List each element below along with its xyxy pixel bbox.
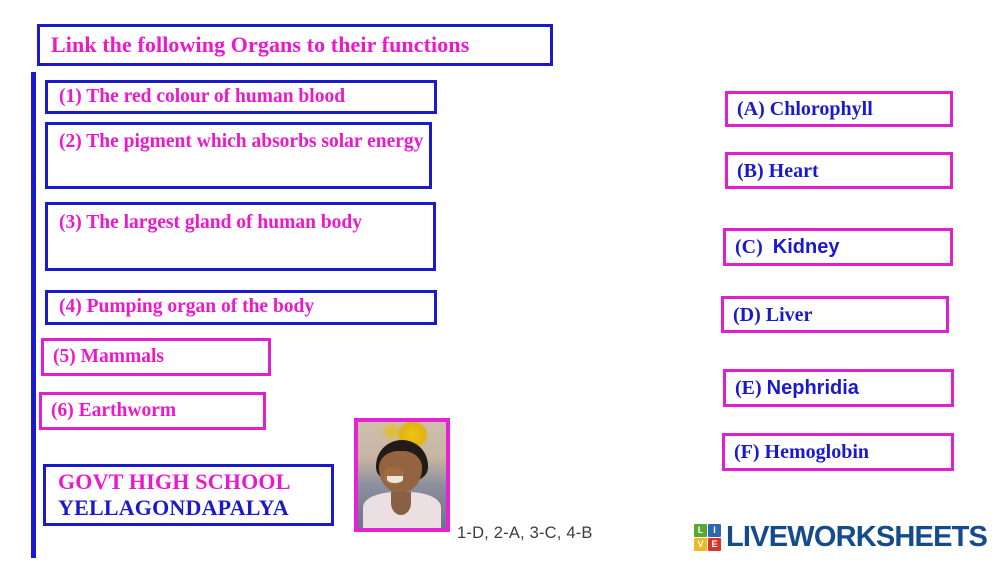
liveworksheets-mark-icon: L I V E bbox=[694, 524, 721, 551]
option-label-a: (A) Chlorophyll bbox=[737, 97, 873, 121]
option-key-b: (B) bbox=[737, 160, 764, 182]
question-item-6[interactable]: (6) Earthworm bbox=[39, 392, 266, 430]
option-label-c: (C) Kidney bbox=[735, 235, 839, 259]
question-item-5[interactable]: (5) Mammals bbox=[41, 338, 271, 376]
question-label-2: (2) The pigment which absorbs solar ener… bbox=[59, 130, 423, 155]
liveworksheets-logo[interactable]: L I V E LIVEWORKSHEETS bbox=[694, 520, 987, 554]
question-item-3[interactable]: (3) The largest gland of human body bbox=[45, 202, 436, 271]
option-text-f: Hemoglobin bbox=[765, 441, 869, 463]
worksheet-title-box: Link the following Organs to their funct… bbox=[37, 24, 553, 66]
question-label-1: (1) The red colour of human blood bbox=[59, 85, 345, 110]
option-key-d: (D) bbox=[733, 304, 761, 326]
option-item-a[interactable]: (A) Chlorophyll bbox=[725, 91, 953, 127]
school-name-box: GOVT HIGH SCHOOL YELLAGONDAPALYA bbox=[43, 464, 334, 526]
logo-cell-i: I bbox=[708, 524, 721, 537]
option-text-a: Chlorophyll bbox=[770, 98, 873, 120]
question-label-6: (6) Earthworm bbox=[51, 399, 176, 424]
left-blue-rail bbox=[31, 72, 36, 558]
option-key-c: (C) bbox=[735, 236, 763, 258]
option-key-e: (E) bbox=[735, 377, 762, 399]
option-item-c[interactable]: (C) Kidney bbox=[723, 228, 953, 266]
option-item-e[interactable]: (E) Nephridia bbox=[723, 369, 954, 407]
option-label-f: (F) Hemoglobin bbox=[734, 440, 869, 464]
option-item-b[interactable]: (B) Heart bbox=[725, 152, 953, 189]
option-item-f[interactable]: (F) Hemoglobin bbox=[722, 433, 954, 471]
logo-cell-v: V bbox=[694, 538, 707, 551]
option-label-b: (B) Heart bbox=[737, 159, 819, 183]
teacher-photo bbox=[354, 418, 450, 532]
question-item-2[interactable]: (2) The pigment which absorbs solar ener… bbox=[45, 122, 432, 189]
question-label-3: (3) The largest gland of human body bbox=[59, 211, 362, 236]
worksheet-page: Link the following Organs to their funct… bbox=[0, 0, 1000, 562]
question-label-5: (5) Mammals bbox=[53, 345, 164, 370]
option-label-d: (D) Liver bbox=[733, 303, 812, 327]
option-label-e: (E) Nephridia bbox=[735, 376, 859, 400]
option-item-d[interactable]: (D) Liver bbox=[721, 296, 949, 333]
logo-cell-l: L bbox=[694, 524, 707, 537]
school-name-line-2: YELLAGONDAPALYA bbox=[58, 495, 289, 521]
answer-key-text: 1-D, 2-A, 3-C, 4-B bbox=[457, 524, 593, 543]
liveworksheets-wordmark: LIVEWORKSHEETS bbox=[726, 523, 987, 552]
question-item-1[interactable]: (1) The red colour of human blood bbox=[45, 80, 437, 114]
option-text-d: Liver bbox=[766, 304, 813, 326]
option-text-c: Kidney bbox=[773, 236, 840, 258]
page-title: Link the following Organs to their funct… bbox=[51, 33, 469, 56]
option-text-b: Heart bbox=[769, 160, 819, 182]
question-label-4: (4) Pumping organ of the body bbox=[59, 295, 314, 320]
school-name-line-1: GOVT HIGH SCHOOL bbox=[58, 469, 291, 495]
option-key-a: (A) bbox=[737, 98, 765, 120]
option-text-e: Nephridia bbox=[767, 377, 859, 399]
question-item-4[interactable]: (4) Pumping organ of the body bbox=[45, 290, 437, 325]
option-key-f: (F) bbox=[734, 441, 760, 463]
teacher-photo-image bbox=[358, 422, 446, 528]
logo-cell-e: E bbox=[708, 538, 721, 551]
